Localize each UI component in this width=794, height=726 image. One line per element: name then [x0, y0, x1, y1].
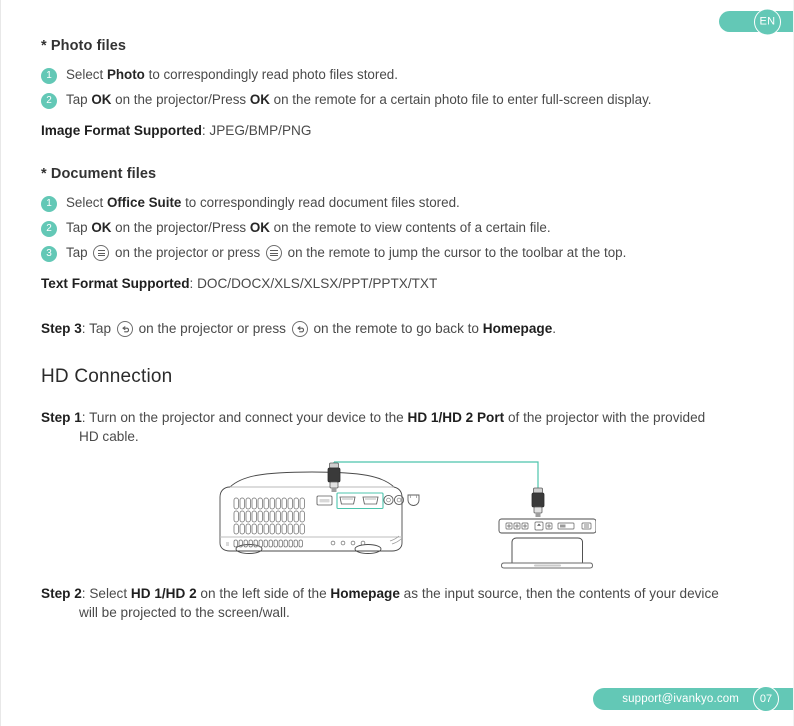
text-pre: : Tap [82, 321, 115, 336]
bullet-number: 1 [41, 68, 57, 84]
text-bold: OK [250, 92, 270, 107]
support-email[interactable]: support@ivankyo.com [622, 693, 739, 705]
back-arrow-icon [292, 321, 308, 337]
text-format-line: Text Format Supported: DOC/DOCX/XLS/XLSX… [41, 276, 755, 291]
text-post: on the remote to go back to [310, 321, 483, 336]
text-post: of the projector with the provided [504, 410, 705, 425]
list-item-text: Select Photo to correspondingly read pho… [66, 66, 398, 83]
text-pre: Tap [66, 220, 91, 235]
text-pre: Select [66, 195, 107, 210]
list-item-text: Select Office Suite to correspondingly r… [66, 194, 460, 211]
text-bold: Office Suite [107, 195, 181, 210]
text-bold: Photo [107, 67, 145, 82]
step1-line: Step 1: Turn on the projector and connec… [41, 408, 755, 427]
language-badge-label: EN [754, 8, 781, 35]
text-mid: on the projector or press [111, 245, 264, 260]
text-bold: Homepage [483, 321, 553, 336]
manual-page: EN * Photo files 1 Select Photo to corre… [0, 0, 794, 726]
back-arrow-icon [117, 321, 133, 337]
step3-line: Step 3: Tap on the projector or press on… [41, 319, 755, 338]
text-mid: on the projector or press [135, 321, 290, 336]
projector-hd-cable-laptop-diagram [216, 445, 596, 570]
text-mid: to correspondingly read photo files stor… [145, 67, 398, 82]
text-post: as the input source, then the contents o… [400, 586, 719, 601]
list-item-text: Tap OK on the projector/Press OK on the … [66, 219, 551, 236]
bullet-number: 2 [41, 221, 57, 237]
text-pre: : Select [82, 586, 131, 601]
text-bold: HD 1/HD 2 Port [408, 410, 505, 425]
step2-line2: will be projected to the screen/wall. [41, 603, 755, 622]
footer-bar: support@ivankyo.com 07 [593, 688, 793, 710]
step2-label: Step 2 [41, 586, 82, 601]
text-pre: Tap [66, 245, 91, 260]
text-pre: : Turn on the projector and connect your… [82, 410, 408, 425]
text-mid: on the projector/Press [111, 220, 249, 235]
image-format-value: : JPEG/BMP/PNG [202, 123, 312, 138]
page-number: 07 [753, 686, 779, 712]
list-item: 1 Select Photo to correspondingly read p… [41, 66, 755, 84]
text-mid: on the left side of the [197, 586, 331, 601]
image-format-label: Image Format Supported [41, 123, 202, 138]
text-bold: HD 1/HD 2 [131, 586, 197, 601]
list-item: 2 Tap OK on the projector/Press OK on th… [41, 219, 755, 237]
page-title: HD Connection [41, 366, 755, 388]
document-files-title: * Document files [41, 166, 755, 182]
text-pre: Select [66, 67, 107, 82]
text-bold: OK [250, 220, 270, 235]
bullet-number: 3 [41, 246, 57, 262]
step2-line: Step 2: Select HD 1/HD 2 on the left sid… [41, 584, 755, 603]
step2-block: Step 2: Select HD 1/HD 2 on the left sid… [41, 584, 755, 622]
text-format-value: : DOC/DOCX/XLS/XLSX/PPT/PPTX/TXT [190, 276, 438, 291]
text-bold: OK [91, 92, 111, 107]
step1-label: Step 1 [41, 410, 82, 425]
image-format-line: Image Format Supported: JPEG/BMP/PNG [41, 123, 755, 138]
text-post: on the remote for a certain photo file t… [270, 92, 652, 107]
list-item-text: Tap OK on the projector/Press OK on the … [66, 91, 652, 108]
step1-line2: HD cable. [41, 427, 755, 446]
text-mid: on the projector/Press [111, 92, 249, 107]
text-bold: Homepage [330, 586, 400, 601]
step3-label: Step 3 [41, 321, 82, 336]
menu-icon [93, 245, 109, 261]
menu-icon [266, 245, 282, 261]
text-bold: OK [91, 220, 111, 235]
bullet-number: 1 [41, 196, 57, 212]
text-format-label: Text Format Supported [41, 276, 190, 291]
text-mid: to correspondingly read document files s… [181, 195, 459, 210]
text-pre: Tap [66, 92, 91, 107]
bullet-number: 2 [41, 93, 57, 109]
list-item-text: Tap on the projector or press on the rem… [66, 244, 626, 261]
list-item: 1 Select Office Suite to correspondingly… [41, 194, 755, 212]
text-post: on the remote to jump the cursor to the … [284, 245, 626, 260]
page-content: * Photo files 1 Select Photo to correspo… [41, 38, 755, 446]
text-period: . [552, 321, 556, 336]
list-item: 3 Tap on the projector or press on the r… [41, 244, 755, 262]
photo-files-title: * Photo files [41, 38, 755, 54]
text-post: on the remote to view contents of a cert… [270, 220, 551, 235]
language-badge[interactable]: EN [719, 11, 793, 32]
list-item: 2 Tap OK on the projector/Press OK on th… [41, 91, 755, 109]
